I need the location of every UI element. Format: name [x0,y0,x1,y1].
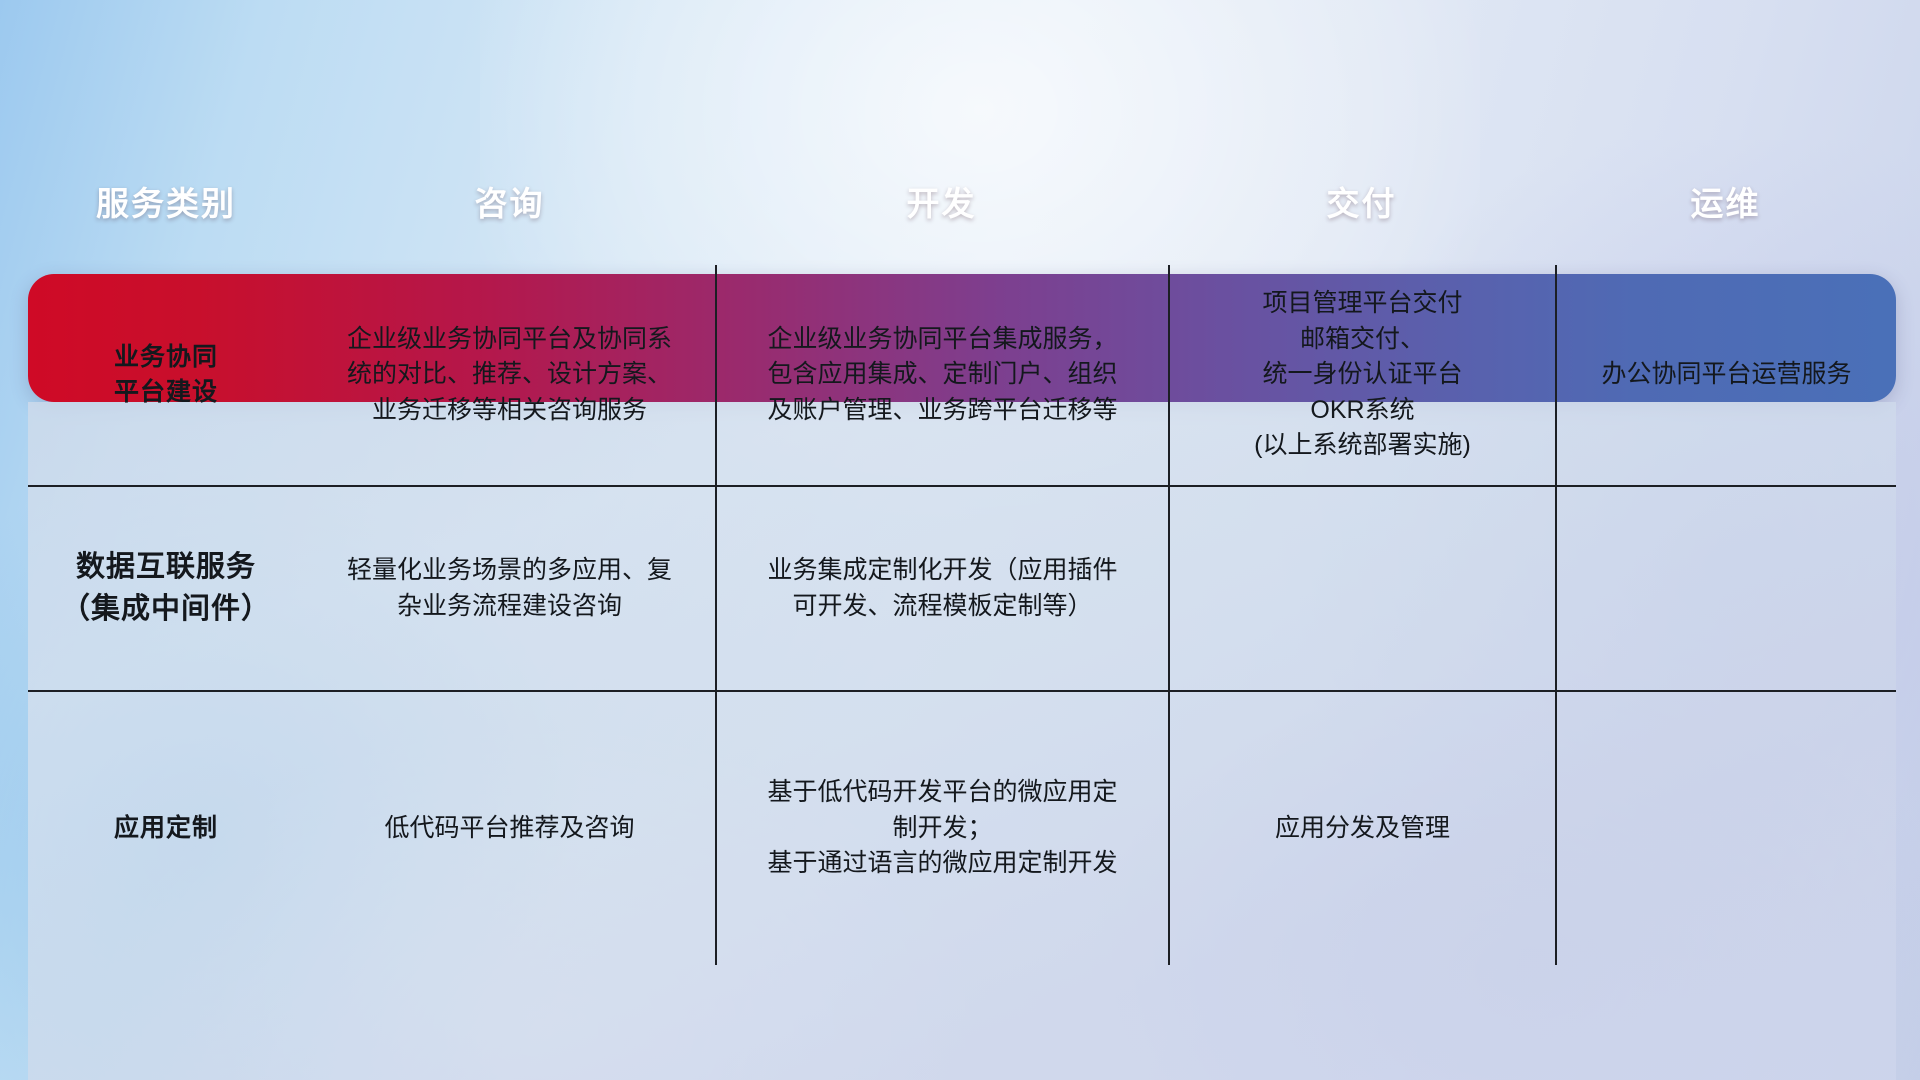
row-label-business-collaboration: 业务协同 平台建设 [28,265,304,485]
column-header-operations: 运维 [1555,137,1896,265]
service-matrix-table: 服务类别 咨询 开发 交付 运维 业务协同 平台建设 企业级业务协同平台及协同系… [28,137,1896,965]
row-label-data-interconnect: 数据互联服务 （集成中间件） [28,485,304,690]
cell-row3-delivery: 应用分发及管理 [1168,690,1555,965]
cell-row1-delivery: 项目管理平台交付 邮箱交付、 统一身份认证平台 OKR系统 (以上系统部署实施) [1168,265,1555,485]
cell-row2-consulting: 轻量化业务场景的多应用、复 杂业务流程建设咨询 [304,485,715,690]
table-row: 数据互联服务 （集成中间件） 轻量化业务场景的多应用、复 杂业务流程建设咨询 业… [28,485,1896,690]
cell-row2-delivery [1168,485,1555,690]
cell-row1-operations: 办公协同平台运营服务 [1555,265,1896,485]
cell-row3-development: 基于低代码开发平台的微应用定 制开发； 基于通过语言的微应用定制开发 [715,690,1168,965]
cell-row3-operations [1555,690,1896,965]
table-row: 业务协同 平台建设 企业级业务协同平台及协同系 统的对比、推荐、设计方案、 业务… [28,265,1896,485]
cell-row2-operations [1555,485,1896,690]
column-header-consulting: 咨询 [304,137,715,265]
table-row: 应用定制 低代码平台推荐及咨询 基于低代码开发平台的微应用定 制开发； 基于通过… [28,690,1896,965]
cell-row3-consulting: 低代码平台推荐及咨询 [304,690,715,965]
column-header-service-category: 服务类别 [28,137,304,265]
column-header-delivery: 交付 [1168,137,1555,265]
service-matrix: 服务类别 咨询 开发 交付 运维 业务协同 平台建设 企业级业务协同平台及协同系… [28,137,1896,965]
header-row: 服务类别 咨询 开发 交付 运维 [28,137,1896,265]
row-label-app-customization: 应用定制 [28,690,304,965]
table-body: 业务协同 平台建设 企业级业务协同平台及协同系 统的对比、推荐、设计方案、 业务… [28,265,1896,965]
cell-row1-consulting: 企业级业务协同平台及协同系 统的对比、推荐、设计方案、 业务迁移等相关咨询服务 [304,265,715,485]
column-header-development: 开发 [715,137,1168,265]
cell-row2-development: 业务集成定制化开发（应用插件 可开发、流程模板定制等） [715,485,1168,690]
cell-row1-development: 企业级业务协同平台集成服务， 包含应用集成、定制门户、组织 及账户管理、业务跨平… [715,265,1168,485]
table-head: 服务类别 咨询 开发 交付 运维 [28,137,1896,265]
